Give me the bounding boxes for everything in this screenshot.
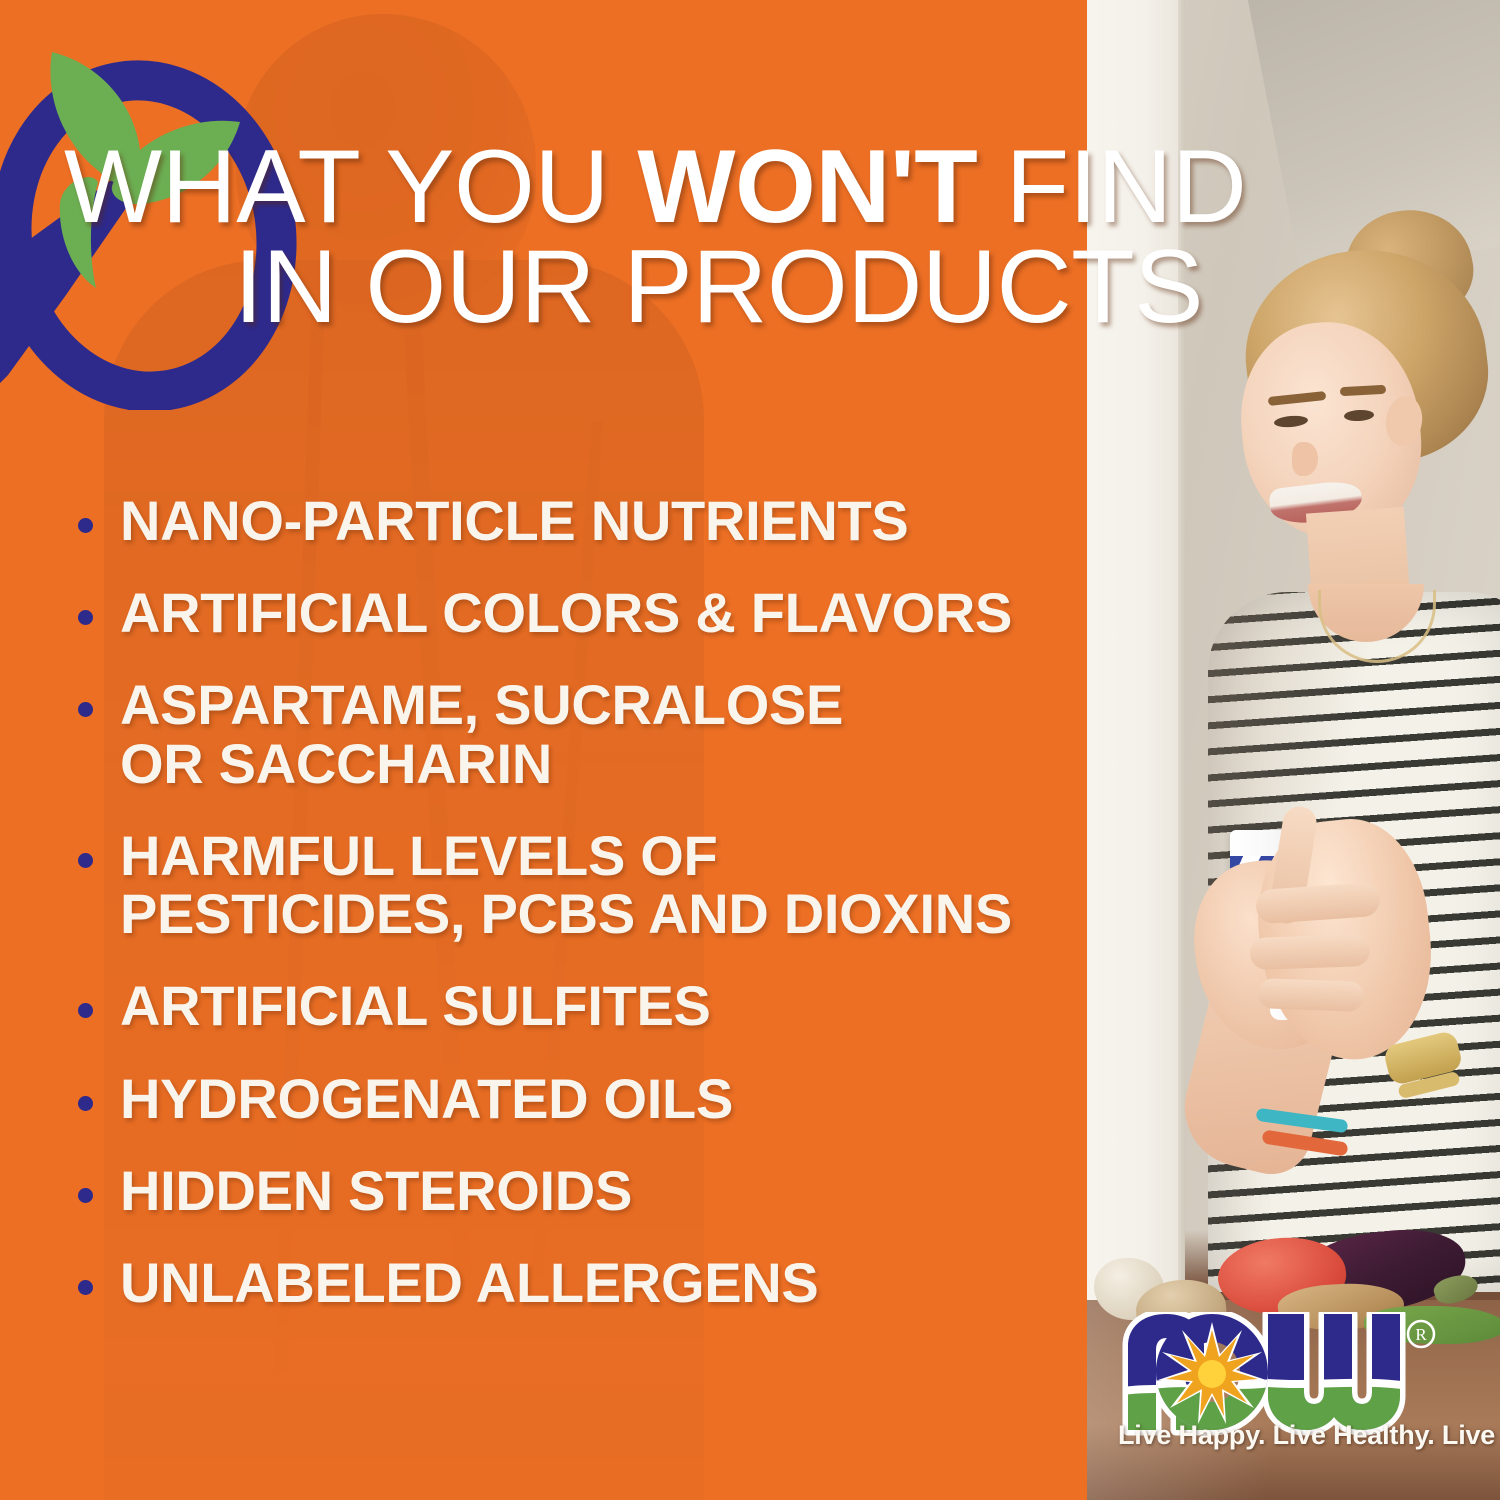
svg-text:R: R — [1415, 1325, 1427, 1344]
list-item: HARMFUL LEVELS OF PESTICIDES, PCBS AND D… — [66, 827, 1076, 943]
sun-core — [1198, 1360, 1226, 1388]
finger — [1258, 978, 1365, 1012]
list-item: HIDDEN STEROIDS — [66, 1162, 1076, 1220]
headline-after: FIND — [977, 129, 1246, 245]
bullet-dot-icon — [78, 610, 93, 625]
headline-emphasis: WON'T — [637, 129, 977, 245]
list-item: ARTIFICIAL COLORS & FLAVORS — [66, 584, 1076, 642]
list-item-line: OR SACCHARIN — [120, 735, 1076, 793]
list-item: NANO-PARTICLE NUTRIENTS — [66, 492, 1076, 550]
headline-line-2: IN OUR PRODUCTS — [64, 238, 1464, 338]
finger — [1249, 934, 1370, 970]
bullet-dot-icon — [78, 1280, 93, 1295]
list-item-line: ARTIFICIAL COLORS & FLAVORS — [120, 584, 1076, 642]
bullet-dot-icon — [78, 702, 93, 717]
page-title: WHAT YOU WON'T FIND IN OUR PRODUCTS — [64, 138, 1464, 338]
registered-trademark-icon: R — [1408, 1321, 1434, 1347]
list-item-line: HYDROGENATED OILS — [120, 1070, 1076, 1128]
bullet-dot-icon — [78, 1096, 93, 1111]
headline-before: WHAT YOU — [64, 129, 637, 245]
logo-letter-w — [1258, 1312, 1408, 1492]
nose — [1292, 442, 1318, 476]
list-item-line: UNLABELED ALLERGENS — [120, 1254, 1076, 1312]
now-brand-logo: R — [1118, 1312, 1448, 1492]
list-item-line: ASPARTAME, SUCRALOSE — [120, 676, 1076, 734]
list-item-line: PESTICIDES, PCBS AND DIOXINS — [120, 885, 1076, 943]
list-item-line: HIDDEN STEROIDS — [120, 1162, 1076, 1220]
brand-tagline: Live Happy. Live Healthy. Live NOW. — [1118, 1420, 1454, 1451]
photo-subject-woman — [1150, 180, 1500, 1300]
list-item: ARTIFICIAL SULFITES — [66, 977, 1076, 1035]
promo-poster: WHAT YOU WON'T FIND IN OUR PRODUCTS NANO… — [0, 0, 1500, 1500]
headline-line-1: WHAT YOU WON'T FIND — [64, 138, 1464, 238]
list-item: UNLABELED ALLERGENS — [66, 1254, 1076, 1312]
bullet-dot-icon — [78, 518, 93, 533]
list-item-line: HARMFUL LEVELS OF — [120, 827, 1076, 885]
list-item: ASPARTAME, SUCRALOSE OR SACCHARIN — [66, 676, 1076, 792]
list-item: HYDROGENATED OILS — [66, 1070, 1076, 1128]
bullet-dot-icon — [78, 1188, 93, 1203]
list-item-line: ARTIFICIAL SULFITES — [120, 977, 1076, 1035]
exclusions-list: NANO-PARTICLE NUTRIENTS ARTIFICIAL COLOR… — [66, 492, 1076, 1346]
list-item-line: NANO-PARTICLE NUTRIENTS — [120, 492, 1076, 550]
bullet-dot-icon — [78, 853, 93, 868]
bullet-dot-icon — [78, 1003, 93, 1018]
